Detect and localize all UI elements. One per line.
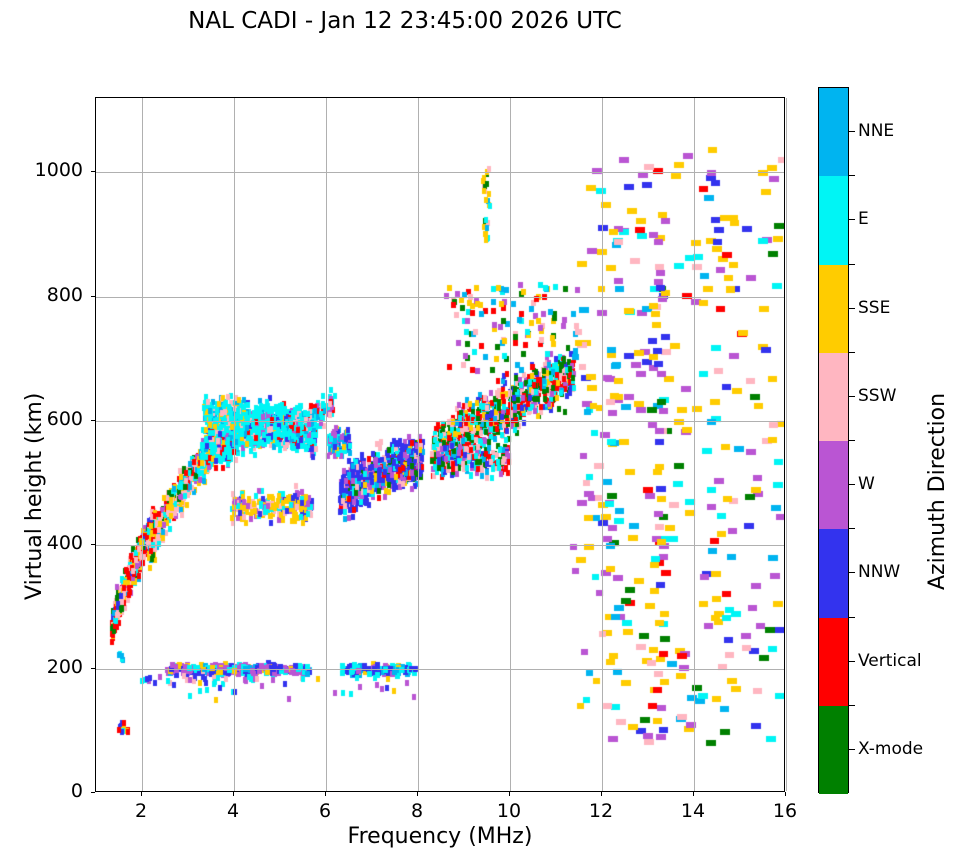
y-tick-label: 200 xyxy=(13,656,83,678)
colorbar-tick xyxy=(849,308,855,309)
colorbar-tick xyxy=(849,661,855,662)
x-tick-mark xyxy=(325,792,326,796)
colorbar-boundary-tick xyxy=(849,352,855,353)
colorbar-segment-vertical xyxy=(819,618,848,706)
colorbar-label-sse: SSE xyxy=(858,298,890,318)
y-tick-label: 800 xyxy=(13,284,83,306)
gridline-vertical xyxy=(234,98,235,791)
colorbar-boundary-tick xyxy=(849,528,855,529)
x-tick-label: 6 xyxy=(295,800,355,822)
colorbar-label-x-mode: X-mode xyxy=(858,739,923,759)
colorbar-label-ssw: SSW xyxy=(858,386,896,406)
x-tick-label: 16 xyxy=(755,800,815,822)
y-tick-label: 0 xyxy=(13,780,83,802)
x-tick-label: 12 xyxy=(571,800,631,822)
colorbar-label-nnw: NNW xyxy=(858,562,900,582)
colorbar-tick xyxy=(849,749,855,750)
ionogram-figure: NAL CADI - Jan 12 23:45:00 2026 UTC 2468… xyxy=(0,0,958,857)
y-tick-label: 1000 xyxy=(13,159,83,181)
x-tick-mark xyxy=(601,792,602,796)
colorbar-boundary-tick xyxy=(849,705,855,706)
colorbar-segment-nnw xyxy=(819,529,848,617)
gridline-vertical xyxy=(694,98,695,791)
gridline-vertical xyxy=(602,98,603,791)
gridline-vertical xyxy=(418,98,419,791)
colorbar-boundary-tick xyxy=(849,264,855,265)
colorbar-boundary-tick xyxy=(849,617,855,618)
x-tick-mark xyxy=(785,792,786,796)
colorbar-tick xyxy=(849,396,855,397)
gridline-horizontal xyxy=(96,297,784,298)
y-tick-mark xyxy=(91,668,95,669)
colorbar-label-w: W xyxy=(858,474,875,494)
gridline-vertical xyxy=(786,98,787,791)
colorbar-tick xyxy=(849,572,855,573)
colorbar xyxy=(818,87,849,793)
gridline-horizontal xyxy=(96,545,784,546)
ionogram-echo-canvas xyxy=(96,98,784,791)
x-tick-label: 4 xyxy=(203,800,263,822)
x-tick-mark xyxy=(141,792,142,796)
y-axis-label: Virtual height (km) xyxy=(22,393,47,600)
colorbar-tick xyxy=(849,131,855,132)
colorbar-segment-w xyxy=(819,441,848,529)
page-title: NAL CADI - Jan 12 23:45:00 2026 UTC xyxy=(0,8,810,34)
colorbar-segment-sse xyxy=(819,265,848,353)
gridline-horizontal xyxy=(96,421,784,422)
gridline-horizontal xyxy=(96,172,784,173)
colorbar-tick xyxy=(849,219,855,220)
colorbar-boundary-tick xyxy=(849,440,855,441)
x-tick-label: 14 xyxy=(663,800,723,822)
x-tick-mark xyxy=(693,792,694,796)
colorbar-segment-nne xyxy=(819,88,848,176)
colorbar-label-nne: NNE xyxy=(858,121,894,141)
colorbar-label-vertical: Vertical xyxy=(858,651,922,671)
colorbar-label-e: E xyxy=(858,209,869,229)
gridline-vertical xyxy=(326,98,327,791)
gridline-horizontal xyxy=(96,669,784,670)
colorbar-segment-e xyxy=(819,176,848,264)
x-axis-label: Frequency (MHz) xyxy=(95,824,785,849)
x-tick-label: 8 xyxy=(387,800,447,822)
colorbar-segment-x-mode xyxy=(819,706,848,794)
colorbar-segment-ssw xyxy=(819,353,848,441)
y-tick-mark xyxy=(91,171,95,172)
colorbar-tick xyxy=(849,484,855,485)
gridline-vertical xyxy=(142,98,143,791)
x-tick-mark xyxy=(417,792,418,796)
gridline-vertical xyxy=(510,98,511,791)
y-tick-mark xyxy=(91,544,95,545)
plot-area xyxy=(95,97,785,792)
x-tick-label: 10 xyxy=(479,800,539,822)
y-tick-mark xyxy=(91,296,95,297)
colorbar-label: Azimuth Direction xyxy=(925,393,950,590)
x-tick-mark xyxy=(509,792,510,796)
x-tick-mark xyxy=(233,792,234,796)
y-tick-mark xyxy=(91,420,95,421)
x-tick-label: 2 xyxy=(111,800,171,822)
y-tick-mark xyxy=(91,792,95,793)
colorbar-boundary-tick xyxy=(849,175,855,176)
